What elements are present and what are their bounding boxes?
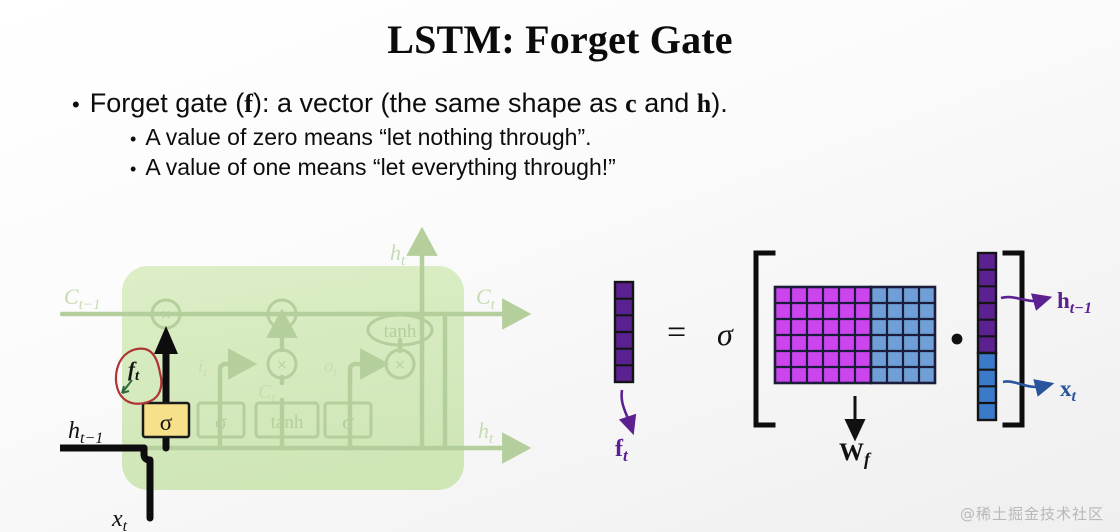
lstm-input-labels: ht−1 xt [68, 418, 128, 532]
output-multiply-label: × [395, 355, 406, 376]
label-ft: ft [615, 436, 629, 465]
bullet-main-part2: ): a vector (the same shape as [253, 88, 625, 118]
label-h-prev: ht−1 [68, 418, 103, 447]
label-c-out: Ct [476, 284, 496, 313]
bullet-list: • Forget gate (f): a vector (the same sh… [72, 88, 902, 184]
weight-matrix-wf [775, 287, 935, 383]
page-title: LSTM: Forget Gate [0, 16, 1120, 63]
label-x-input: xt [111, 506, 128, 532]
output-vector-ft [615, 282, 633, 382]
label-x-eq: xt [1060, 376, 1077, 405]
bullet-marker-icon: • [130, 130, 136, 148]
label-h-top: ht [390, 240, 406, 269]
lstm-cell-body [122, 266, 464, 490]
right-bracket [1005, 253, 1022, 425]
input-sigma-label: σ [215, 409, 227, 434]
output-tanh-label: tanh [384, 321, 417, 342]
forget-sigma-label: σ [160, 410, 173, 435]
sub-bullet-list: • A value of zero means “let nothing thr… [130, 124, 902, 181]
dot-product-symbol [952, 334, 963, 345]
bullet-marker-icon: • [72, 94, 80, 116]
lstm-cell-diagram: σ tanh σ tanh × + × × Ct−1 [60, 218, 550, 532]
ft-callout-arrow [622, 390, 630, 424]
bullet-main-part3: and [637, 88, 697, 118]
equals-sign: = [667, 314, 686, 351]
input-multiply-label: × [277, 355, 288, 376]
input-vector-hx [978, 253, 996, 420]
bullet-main-part1: Forget gate ( [90, 88, 245, 118]
sub-bullet-one: • A value of one means “let everything t… [130, 154, 902, 181]
sub-bullet-zero-text: A value of zero means “let nothing throu… [145, 124, 591, 151]
sub-bullet-zero: • A value of zero means “let nothing thr… [130, 124, 902, 151]
left-bracket [756, 253, 773, 425]
label-c-prev: Ct−1 [64, 284, 100, 313]
label-wf: Wf [839, 439, 872, 469]
bullet-main-part4: ). [711, 88, 728, 118]
candidate-tanh-label: tanh [271, 412, 304, 433]
watermark: @稀土掘金技术社区 [960, 503, 1104, 524]
forget-multiply-label: × [161, 305, 172, 326]
sigma-function: σ [717, 316, 734, 352]
symbol-f: f [244, 89, 253, 118]
sub-bullet-one-text: A value of one means “let everything thr… [145, 154, 616, 181]
state-add-label: + [277, 306, 288, 327]
bullet-marker-icon: • [130, 160, 136, 178]
output-sigma-label: σ [342, 409, 354, 434]
bullet-main-text: Forget gate (f): a vector (the same shap… [90, 88, 728, 118]
symbol-h: h [697, 89, 711, 118]
forget-gate-equation: ft = σ [595, 238, 1120, 488]
symbol-c: c [625, 89, 637, 118]
label-h-prev-eq: ht−1 [1057, 288, 1092, 317]
bullet-main: • Forget gate (f): a vector (the same sh… [72, 88, 902, 118]
slide-root: LSTM: Forget Gate • Forget gate (f): a v… [0, 0, 1120, 532]
label-h-out: ht [478, 418, 494, 447]
